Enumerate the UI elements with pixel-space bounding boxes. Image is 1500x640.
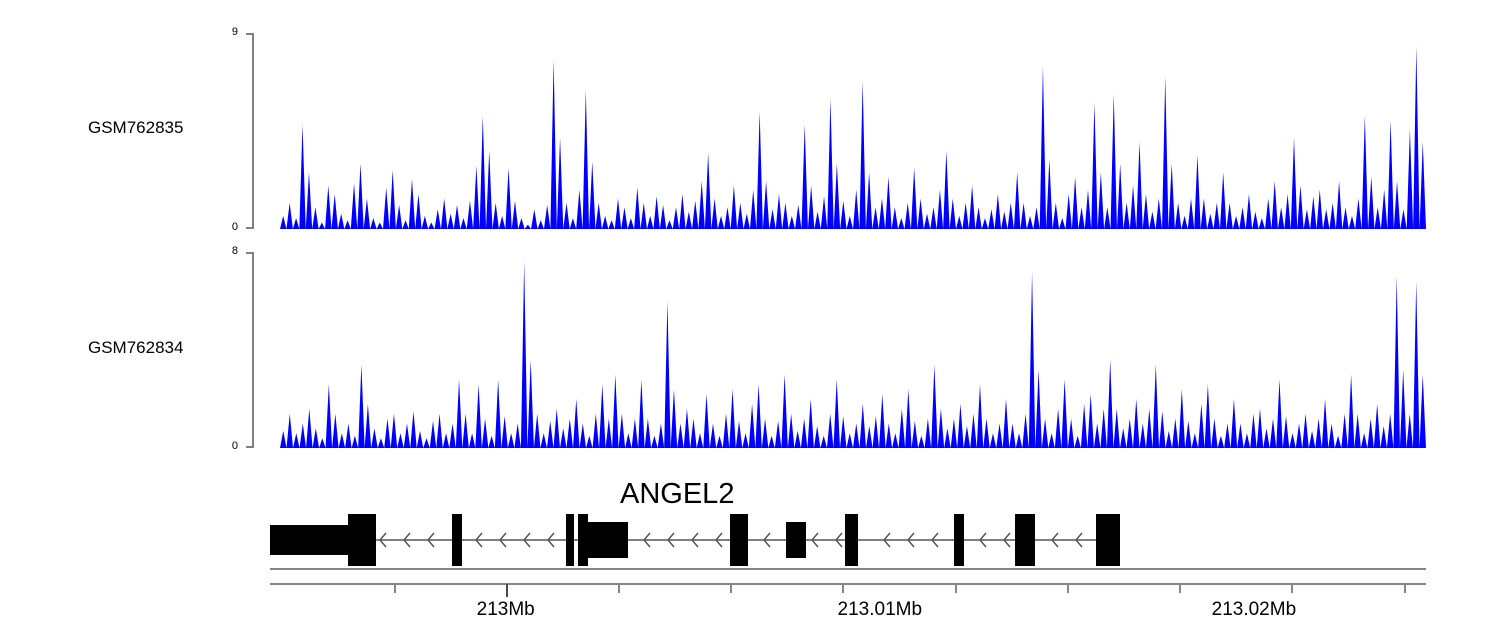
axis-tick-minor <box>730 584 732 593</box>
y-axis-min-label-track-1: 0 <box>208 221 238 233</box>
y-axis-min-label-track-2: 0 <box>208 440 238 452</box>
axis-tick-minor <box>1179 584 1181 593</box>
gene-feature-exon <box>845 514 858 566</box>
y-axis-track-1 <box>244 33 258 229</box>
y-axis-tick-min <box>246 446 254 448</box>
gene-feature-exon <box>1096 514 1108 566</box>
y-axis-tick-min <box>246 227 254 229</box>
axis-tick-label: 213.01Mb <box>838 599 923 621</box>
signal-track-gsm762835 <box>280 33 1426 229</box>
y-axis-track-2 <box>244 252 258 448</box>
axis-rule-upper <box>270 568 1426 570</box>
axis-tick-minor <box>955 584 957 593</box>
gene-feature-utr <box>270 525 348 555</box>
signal-track-gsm762834 <box>280 252 1426 448</box>
axis-tick-minor <box>842 584 844 593</box>
y-axis-max-label-track-2: 8 <box>208 245 238 257</box>
signal-area-chart-2 <box>280 252 1426 448</box>
gene-feature-exon <box>578 514 588 566</box>
y-axis-spine <box>252 252 254 448</box>
gene-feature-exon <box>730 514 748 566</box>
gene-feature-exon <box>954 514 964 566</box>
y-axis-tick-max <box>246 252 254 254</box>
axis-tick-minor <box>1291 584 1293 593</box>
axis-tick-minor <box>618 584 620 593</box>
gene-feature-cds <box>786 522 806 558</box>
axis-tick-minor <box>1404 584 1406 593</box>
intron-lines <box>270 533 1120 547</box>
axis-tick-major <box>506 584 508 597</box>
signal-area-chart-1 <box>280 33 1426 229</box>
axis-tick-label: 213Mb <box>477 599 535 621</box>
genomic-axis[interactable]: 213Mb213.01Mb213.02Mb <box>0 560 1500 640</box>
gene-feature-cds <box>588 522 628 558</box>
y-axis-spine <box>252 33 254 229</box>
axis-tick-label: 213.02Mb <box>1212 599 1297 621</box>
track-label-gsm762835: GSM762835 <box>88 118 183 138</box>
gene-feature-exon <box>452 514 462 566</box>
genome-browser-figure: GSM762835 9 0 GSM762834 8 0 ANGEL2 <box>0 0 1500 640</box>
axis-rule-lower <box>270 583 1426 585</box>
gene-feature-exon <box>1015 514 1035 566</box>
axis-tick-minor <box>1067 584 1069 593</box>
gene-feature-exon <box>1108 514 1120 566</box>
gene-feature-exon <box>348 514 376 566</box>
axis-tick-minor <box>394 584 396 593</box>
gene-feature-exon <box>566 514 574 566</box>
y-axis-tick-max <box>246 33 254 35</box>
track-label-gsm762834: GSM762834 <box>88 338 183 358</box>
y-axis-max-label-track-1: 9 <box>208 26 238 38</box>
